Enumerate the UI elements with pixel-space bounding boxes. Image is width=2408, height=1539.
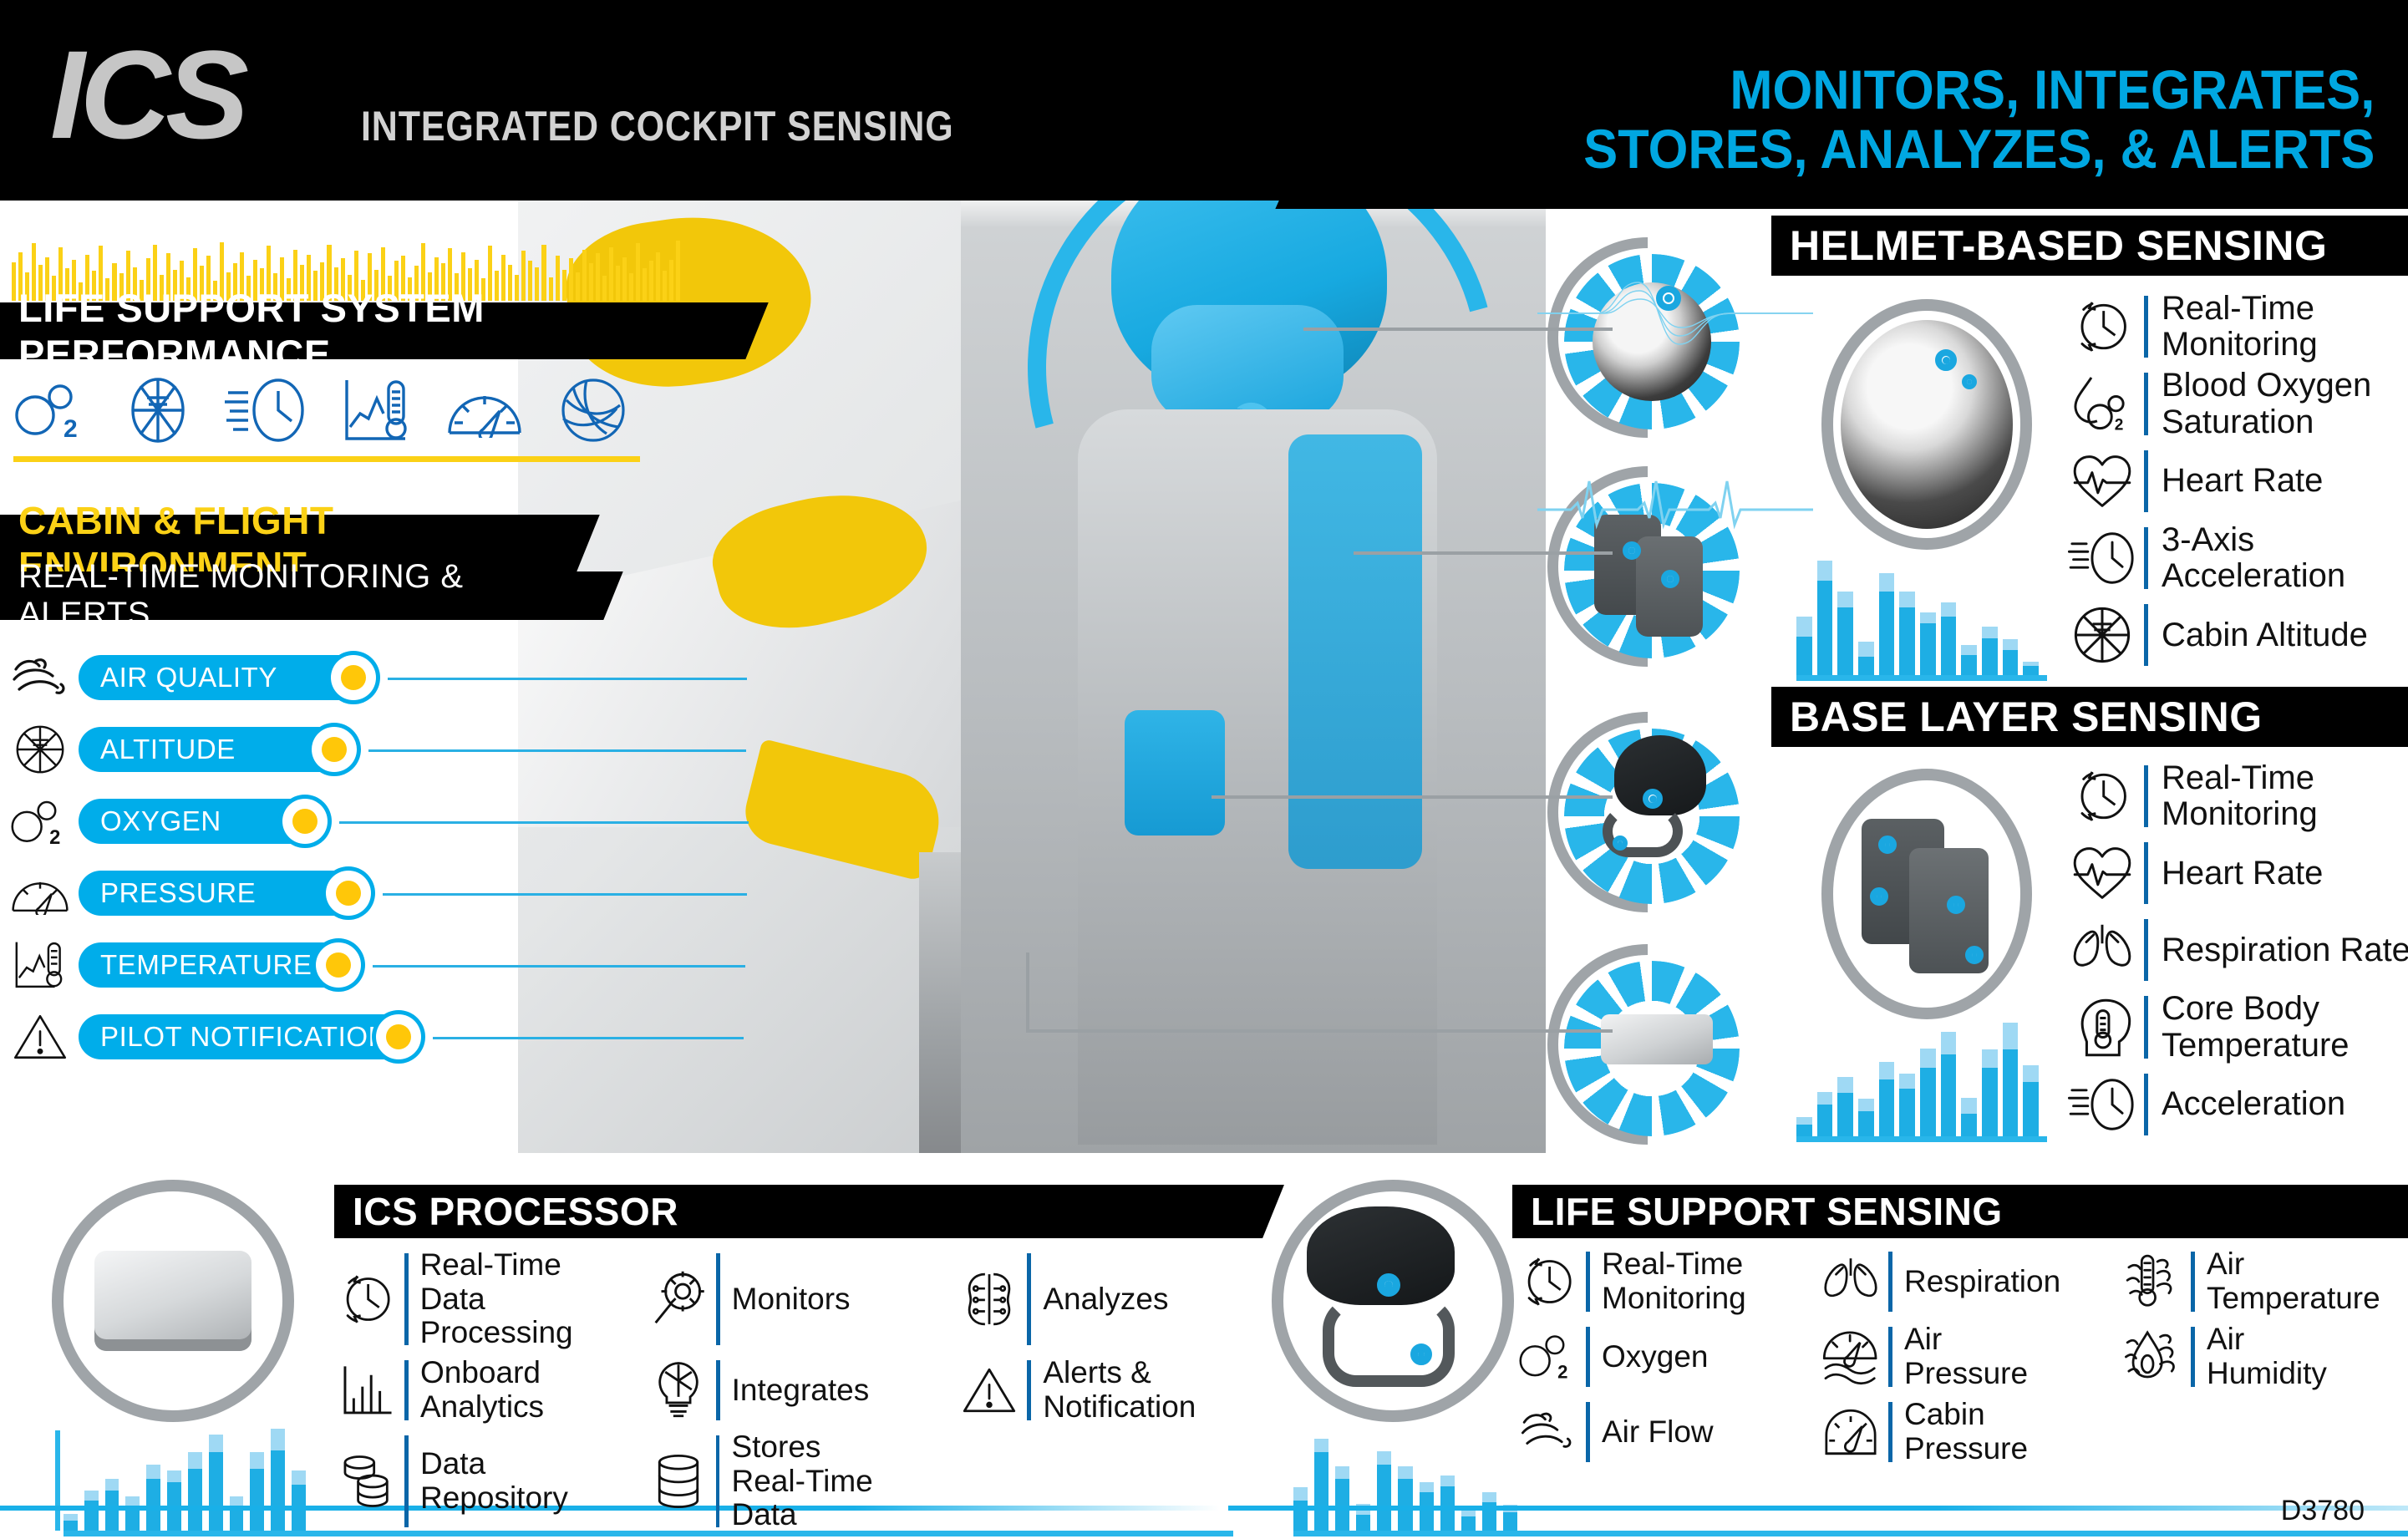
leader-line: [388, 678, 747, 680]
brain-circuit-icon: [953, 1264, 1025, 1334]
chart-bar-overlay: [167, 1470, 181, 1482]
chart-bar: [1982, 1011, 1998, 1136]
real-time-clock-icon: [2064, 291, 2141, 363]
chart-bar-base: [105, 1491, 119, 1531]
feature-label: DataRepository: [420, 1447, 568, 1515]
chart-bar-overlay: [1817, 561, 1833, 581]
pill-air-quality[interactable]: AIR QUALITY: [79, 655, 369, 700]
feature-air-flow: Air Flow: [1512, 1397, 1803, 1467]
real-time-clock-icon: [331, 1264, 403, 1334]
feature-label: AirTemperature: [2207, 1247, 2380, 1315]
status-dot: [316, 942, 361, 988]
chart-bar: [1920, 1011, 1936, 1136]
chart-bar: [1879, 1011, 1895, 1136]
divider: [2144, 450, 2148, 512]
divider: [404, 1435, 409, 1527]
chart-bar: [1377, 1420, 1391, 1531]
chart-bar-overlay: [1482, 1492, 1496, 1502]
feature-label: Blood OxygenSaturation: [2162, 368, 2371, 439]
chart-bar: [1961, 551, 1977, 675]
chart-bar-overlay: [1920, 612, 1936, 623]
feature-3-axis-acceleration: 3-AxisAcceleration: [2064, 522, 2408, 594]
chart-bar: [146, 1420, 160, 1531]
chart-bar-base: [1858, 1111, 1874, 1136]
pill-pressure[interactable]: PRESSURE: [79, 871, 364, 916]
chart-bar-overlay: [1817, 1092, 1833, 1105]
temperature-chart-icon: [342, 375, 414, 445]
feature-label: Real-TimeMonitoring: [1602, 1247, 1746, 1315]
chart-bar-base: [1982, 638, 1998, 675]
chart-bar: [1356, 1420, 1370, 1531]
leader-line: [339, 821, 749, 824]
feature-real-time-data-processing: Real-TimeData Processing: [331, 1248, 627, 1350]
ics-processor-title: ICS PROCESSOR: [334, 1185, 1245, 1238]
chart-bar-overlay: [1796, 1117, 1812, 1125]
hotspot-shirt-sensor-c[interactable]: [1947, 896, 1965, 914]
real-time-clock-icon: [223, 376, 310, 444]
leader-line: [433, 1037, 744, 1039]
chart-bar-base: [1837, 607, 1853, 675]
feature-onboard-analytics: OnboardAnalytics: [331, 1355, 627, 1425]
divider: [716, 1435, 720, 1527]
chart-bar-overlay: [146, 1465, 160, 1479]
headline-line-1: MONITORS, INTEGRATES,: [1583, 60, 2375, 119]
feature-label: AirHumidity: [2207, 1323, 2327, 1390]
chart-bar-base: [1899, 607, 1915, 675]
svg-text:2: 2: [2115, 416, 2124, 434]
chart-bar-overlay: [1837, 1077, 1853, 1093]
chart-bar: [1482, 1420, 1496, 1531]
feature-label: Oxygen: [1602, 1340, 1709, 1374]
chart-bar-overlay: [1398, 1466, 1412, 1478]
list-item[interactable]: ALTITUDE: [8, 714, 526, 785]
feature-label: Analyzes: [1043, 1282, 1168, 1317]
status-dot: [331, 655, 376, 700]
pill-label: AIR QUALITY: [100, 662, 277, 693]
chart-bar: [1941, 551, 1957, 675]
air-pressure-icon: [1815, 1322, 1887, 1392]
chart-bar-overlay: [1879, 573, 1895, 592]
chart-bar-overlay: [1899, 1074, 1915, 1089]
chart-bar: [1899, 551, 1915, 675]
divider: [2191, 1252, 2195, 1312]
feature-label: OnboardAnalytics: [420, 1356, 544, 1424]
divider: [404, 1253, 409, 1345]
feature-label: Real-TimeMonitoring: [2162, 291, 2318, 363]
chart-bar-overlay: [1961, 1098, 1977, 1114]
divider: [1027, 1253, 1031, 1345]
infographic-canvas: ICS INTEGRATED COCKPIT SENSING MONITORS,…: [0, 0, 2408, 1539]
chart-bar-overlay: [1377, 1451, 1391, 1465]
feature-data-repository: DataRepository: [331, 1430, 627, 1532]
life-support-performance-rule: [13, 456, 640, 462]
chart-bar-base: [1356, 1515, 1370, 1531]
pill-label: ALTITUDE: [100, 734, 236, 765]
document-code: D3780: [2281, 1495, 2365, 1527]
list-item[interactable]: 2 OXYGEN: [8, 785, 526, 857]
connector-processor: [1028, 1029, 1613, 1033]
air-quality-swirl-icon: [556, 375, 630, 445]
hotspot-hose-sensor-large[interactable]: [1410, 1343, 1432, 1365]
feature-cabin-pressure: CabinPressure: [1815, 1397, 2106, 1467]
chart-bar: [209, 1420, 223, 1531]
chart-bar-base: [1817, 581, 1833, 675]
chart-bar: [105, 1420, 119, 1531]
connector-base-layer: [1354, 551, 1613, 555]
chart-bar-overlay: [292, 1470, 306, 1485]
chart-bar-overlay: [1982, 627, 1998, 637]
chart-bar: [1335, 1420, 1349, 1531]
audio-waveform-decoration: [1537, 276, 1813, 351]
chart-bar: [1920, 551, 1936, 675]
chart-bar-overlay: [64, 1514, 78, 1521]
chart-bar-base: [1335, 1479, 1349, 1531]
feature-label: Integrates: [732, 1374, 870, 1408]
feature-label: StoresReal-Time Data: [731, 1430, 938, 1532]
feature-label: Monitors: [732, 1282, 851, 1317]
processor-box-photo: [1601, 1014, 1713, 1064]
divider: [2144, 604, 2148, 666]
lightbulb-integrate-icon: [643, 1355, 714, 1425]
chart-bar-overlay: [209, 1435, 223, 1453]
feature-monitors: Monitors: [643, 1248, 939, 1350]
chart-bar-overlay: [271, 1429, 285, 1450]
feature-air-humidity: AirHumidity: [2117, 1322, 2408, 1392]
chart-bar-base: [1858, 657, 1874, 675]
feature-label: CabinPressure: [1904, 1398, 2028, 1465]
chart-bar: [1899, 1011, 1915, 1136]
feature-real-time-monitoring: Real-TimeMonitoring: [2064, 291, 2408, 363]
oxygen-o2-icon: 2: [1512, 1322, 1584, 1392]
divider: [1586, 1402, 1590, 1462]
base-layer-shirts-photo-large: [1821, 769, 2032, 1019]
oxygen-mask-helmet-photo-large: [1272, 1180, 1514, 1422]
chart-bar-base: [2023, 1082, 2039, 1136]
connector-processor-vertical: [1026, 952, 1029, 1033]
air-temperature-icon: [2117, 1247, 2189, 1317]
hotspot-shirt-sensor-b[interactable]: [1870, 887, 1888, 906]
chart-bar: [188, 1420, 202, 1531]
divider: [2191, 1327, 2195, 1387]
chart-bar: [2023, 1011, 2039, 1136]
chart-bar-overlay: [1440, 1476, 1455, 1486]
chart-bar-base: [1503, 1512, 1517, 1531]
chart-bar-base: [1982, 1068, 1998, 1136]
chart-bar: [1796, 551, 1812, 675]
cabin-altitude-icon: [2064, 599, 2141, 671]
divider: [2144, 996, 2148, 1058]
database-stack-icon: [331, 1446, 403, 1516]
chart-bar-base: [1314, 1452, 1328, 1531]
lungs-icon: [1815, 1247, 1887, 1317]
acceleration-clock-icon: [2064, 522, 2141, 594]
chart-bar: [84, 1420, 99, 1531]
chart-bar: [1817, 551, 1833, 675]
cabin-pressure-gauge-icon: [1815, 1397, 1887, 1467]
oxygen-o2-icon: 2: [8, 793, 72, 850]
feature-label: Alerts &Notification: [1043, 1356, 1196, 1424]
helmet-based-sensing-features: Real-TimeMonitoring 2 Blood OxygenSatura…: [2064, 291, 2408, 676]
chart-bar-base: [250, 1469, 264, 1531]
chart-bar-base: [2003, 650, 2019, 675]
feature-air-pressure: AirPressure: [1815, 1322, 2106, 1392]
chart-bar-base: [1398, 1479, 1412, 1531]
bar-chart-icon: [331, 1355, 403, 1425]
chart-bar: [1796, 1011, 1812, 1136]
chart-bar-base: [2003, 1049, 2019, 1136]
chart-bar: [1398, 1420, 1412, 1531]
pill-label: OXYGEN: [100, 805, 221, 837]
ics-tagline: INTEGRATED COCKPIT SENSING: [361, 102, 954, 150]
chart-bar-base: [1899, 1089, 1915, 1136]
chart-bar: [2003, 1011, 2019, 1136]
divider: [1888, 1252, 1892, 1312]
divider: [716, 1360, 720, 1420]
list-item[interactable]: AIR QUALITY: [8, 642, 526, 714]
feature-label: Real-TimeMonitoring: [2162, 760, 2318, 832]
chart-bar-base: [1920, 1068, 1936, 1136]
chart-bar-base: [1961, 655, 1977, 675]
chart-bar-overlay: [1335, 1466, 1349, 1478]
divider: [716, 1253, 720, 1345]
core-body-temp-icon: [2064, 992, 2141, 1064]
chart-bar-base: [271, 1450, 285, 1531]
feature-label: Respiration Rate: [2162, 932, 2408, 968]
divider: [1888, 1402, 1892, 1462]
list-item[interactable]: PILOT NOTIFICATIONS: [8, 1001, 526, 1073]
feature-label: Cabin Altitude: [2162, 617, 2368, 653]
chart-bar-overlay: [1941, 602, 1957, 617]
chart-bar-overlay: [1837, 592, 1853, 607]
ics-processor-features: Real-TimeData Processing Monitors: [331, 1248, 1250, 1532]
chart-bar-base: [1961, 1114, 1977, 1136]
divider: [1027, 1360, 1031, 1420]
life-support-sensing-title: LIFE SUPPORT SENSING: [1512, 1185, 2408, 1238]
hotspot-helmet-sensor-a[interactable]: [1935, 349, 1957, 371]
chart-bar: [2023, 551, 2039, 675]
feature-alerts-notification: Alerts &Notification: [953, 1355, 1250, 1425]
feature-label: Acceleration: [2162, 1086, 2345, 1122]
ecg-waveform-decoration: [1537, 468, 1813, 535]
spectrum-bar: [12, 262, 16, 302]
divider: [2144, 842, 2148, 904]
feature-air-temperature: AirTemperature: [2117, 1247, 2408, 1317]
feature-label: AirPressure: [1904, 1323, 2028, 1390]
status-dot: [376, 1014, 421, 1059]
divider: [2144, 919, 2148, 981]
hotspot-hose-sensor[interactable]: [1613, 836, 1628, 851]
chart-bar-base: [1796, 637, 1812, 675]
pressure-gauge-icon: [445, 383, 525, 438]
feature-label: Heart Rate: [2162, 463, 2323, 499]
chart-bar-overlay: [2003, 1023, 2019, 1050]
pill-pilot-notifications[interactable]: PILOT NOTIFICATIONS: [79, 1014, 414, 1059]
pill-altitude[interactable]: ALTITUDE: [79, 727, 350, 772]
temperature-chart-icon: [8, 937, 72, 993]
chart-bar: [1420, 1420, 1434, 1531]
status-dot: [282, 799, 328, 844]
chart-bar: [2003, 551, 2019, 675]
hotspot-shirt-sensor[interactable]: [1623, 541, 1641, 560]
hotspot-shirt-sensor-d[interactable]: [1965, 946, 1984, 964]
cabin-altitude-icon: [124, 376, 192, 444]
svg-text:2: 2: [49, 826, 60, 848]
chart-bar: [64, 1420, 78, 1531]
magnifier-gear-icon: [643, 1264, 714, 1334]
divider: [1888, 1327, 1892, 1387]
chart-bar-overlay: [105, 1479, 119, 1491]
divider: [404, 1360, 409, 1420]
chart-bar: [167, 1420, 181, 1531]
pill-oxygen[interactable]: OXYGEN: [79, 799, 321, 844]
chart-bar-base: [64, 1521, 78, 1531]
air-flow-icon: [1512, 1397, 1584, 1467]
chart-bar-overlay: [2003, 639, 2019, 650]
chart-bar: [271, 1420, 285, 1531]
divider: [2144, 296, 2148, 358]
chart-bar-base: [188, 1469, 202, 1531]
feature-core-body-temperature: Core BodyTemperature: [2064, 991, 2408, 1063]
svg-text:2: 2: [64, 415, 78, 443]
life-support-sensing-features: Real-TimeMonitoring Respiration: [1512, 1247, 2408, 1467]
chart-bar: [1858, 1011, 1874, 1136]
feature-real-time-monitoring: Real-TimeMonitoring: [2064, 760, 2408, 832]
chart-bar-base: [1941, 617, 1957, 675]
cabin-flight-environment-subtitle: REAL-TIME MONITORING & ALERTS: [0, 571, 585, 620]
divider: [2144, 527, 2148, 589]
chart-bar-base: [1817, 1105, 1833, 1136]
base-layer-sensing-features: Real-TimeMonitoring Heart Rate: [2064, 760, 2408, 1145]
connector-mask: [1212, 795, 1613, 799]
feature-label: Real-TimeData Processing: [420, 1248, 627, 1350]
helmet-interior-photo-large: [1821, 299, 2032, 550]
chart-bar: [125, 1420, 140, 1531]
feature-heart-rate: Heart Rate: [2064, 445, 2408, 517]
chart-bar-base: [146, 1479, 160, 1531]
helmet-based-sensing-title: HELMET-BASED SENSING: [1771, 216, 2408, 276]
feature-blood-oxygen-saturation: 2 Blood OxygenSaturation: [2064, 368, 2408, 439]
chart-bar-overlay: [1899, 592, 1915, 607]
feature-stores-real-time-data: StoresReal-Time Data: [643, 1430, 939, 1532]
chart-bar-overlay: [1982, 1049, 1998, 1068]
chart-bar-overlay: [188, 1452, 202, 1468]
chart-bar: [1982, 551, 1998, 675]
alert-triangle-icon: [8, 1008, 72, 1065]
leader-line: [368, 749, 746, 752]
helmet-sensing-bar-chart: [1796, 551, 2039, 675]
chart-bar: [1817, 1011, 1833, 1136]
chart-bar-overlay: [1796, 617, 1812, 637]
chart-bar-base: [1879, 1079, 1895, 1136]
status-dot: [326, 871, 371, 916]
chart-bar-overlay: [1420, 1482, 1434, 1492]
blood-oxygen-icon: 2: [2064, 368, 2141, 440]
feature-respiration-rate: Respiration Rate: [2064, 914, 2408, 986]
chart-bar: [1837, 551, 1853, 675]
chart-bar: [1293, 1420, 1308, 1531]
feature-real-time-monitoring: Real-TimeMonitoring: [1512, 1247, 1803, 1317]
chart-bar-base: [1941, 1054, 1957, 1136]
alert-triangle-icon: [953, 1355, 1025, 1425]
chart-bar: [1314, 1420, 1328, 1531]
feature-label: Core BodyTemperature: [2162, 991, 2350, 1063]
chart-bar-overlay: [1920, 1049, 1936, 1068]
chart-bar-overlay: [1314, 1439, 1328, 1453]
chart-bar-base: [1920, 623, 1936, 675]
oxygen-o2-icon: 2: [12, 377, 92, 444]
chart-bar-base: [1796, 1125, 1812, 1136]
hotspot-helmet-sensor-b[interactable]: [1962, 374, 1977, 389]
database-cylinder-icon: [643, 1446, 714, 1516]
chart-bar: [292, 1420, 306, 1531]
cabin-altitude-icon: [8, 721, 72, 778]
pill-label: PILOT NOTIFICATIONS: [100, 1021, 408, 1053]
feature-analyzes: Analyzes: [953, 1248, 1250, 1350]
lungs-icon: [2064, 914, 2141, 986]
base-layer-sensing-bar-chart: [1796, 1011, 2039, 1136]
divider: [1586, 1252, 1590, 1312]
chart-bar: [1941, 1011, 1957, 1136]
chart-bar-base: [1879, 592, 1895, 675]
list-item[interactable]: PRESSURE: [8, 857, 526, 929]
chart-bar-overlay: [1858, 1099, 1874, 1111]
real-time-clock-icon: [2064, 760, 2141, 832]
hotspot-mask-sensor[interactable]: [1643, 789, 1663, 809]
cabin-flight-environment-list: AIR QUALITY ALTITUDE 2: [8, 642, 526, 1073]
feature-label: Heart Rate: [2162, 856, 2323, 891]
list-item[interactable]: TEMPERATURE: [8, 929, 526, 1001]
pill-temperature[interactable]: TEMPERATURE: [79, 942, 354, 988]
pill-label: PRESSURE: [100, 877, 256, 909]
chart-bar-overlay: [1961, 645, 1977, 655]
headline-line-2: STORES, ANALYZES, & ALERTS: [1583, 119, 2375, 179]
hotspot-mask-sensor-large[interactable]: [1377, 1273, 1400, 1297]
chart-bar: [1858, 551, 1874, 675]
pressure-gauge-icon: [8, 865, 72, 922]
life-support-sensing-bar-chart: [1293, 1420, 1517, 1531]
feature-label: Air Flow: [1602, 1415, 1714, 1450]
chart-bar: [1837, 1011, 1853, 1136]
status-dot: [312, 727, 357, 772]
chart-bar-overlay: [1879, 1062, 1895, 1079]
chart-bar-overlay: [2023, 1065, 2039, 1081]
mask-hose: [1603, 805, 1683, 857]
footer-rule-right: [1228, 1506, 2408, 1511]
feature-acceleration: Acceleration: [2064, 1069, 2408, 1140]
heart-rate-icon: [2064, 837, 2141, 909]
pill-label: TEMPERATURE: [100, 949, 312, 981]
chart-bar-overlay: [1293, 1487, 1308, 1501]
hotspot-shirt-sensor[interactable]: [1661, 570, 1679, 588]
divider: [2144, 1074, 2148, 1135]
chart-bar-base: [1837, 1093, 1853, 1136]
ics-processor-bar-chart: [64, 1420, 306, 1531]
feature-cabin-altitude: Cabin Altitude: [2064, 599, 2408, 671]
chart-bar-overlay: [84, 1491, 99, 1501]
leader-line: [373, 965, 745, 968]
chart-bar: [250, 1420, 264, 1531]
divider: [2144, 765, 2148, 827]
feature-oxygen: 2 Oxygen: [1512, 1322, 1803, 1392]
chart-bar-overlay: [250, 1452, 264, 1468]
chart-bar-base: [209, 1452, 223, 1531]
air-humidity-icon: [2117, 1322, 2189, 1392]
hotspot-shirt-sensor-a[interactable]: [1878, 836, 1897, 854]
leader-line: [383, 893, 747, 896]
feature-integrates: Integrates: [643, 1355, 939, 1425]
chart-bar-overlay: [1858, 642, 1874, 658]
heart-rate-icon: [2064, 445, 2141, 517]
